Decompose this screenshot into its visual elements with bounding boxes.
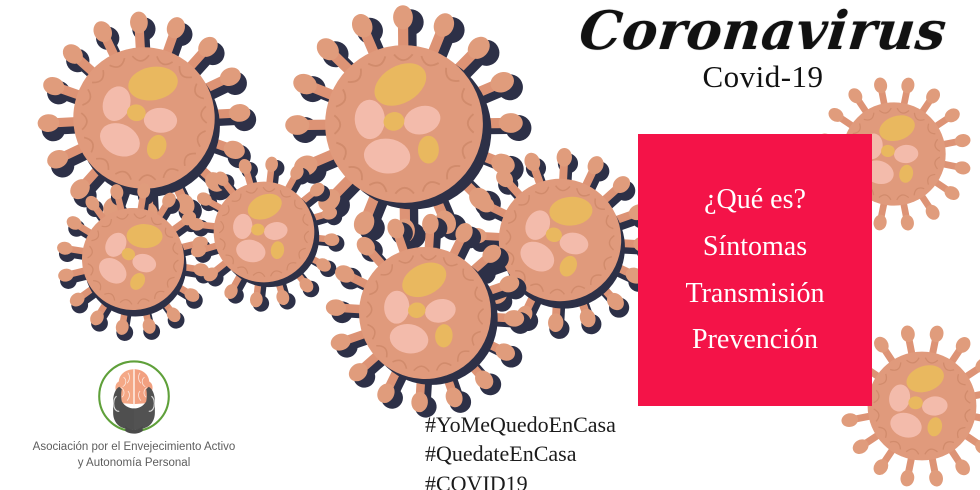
hands-holding-brain-icon xyxy=(90,358,178,438)
hashtag-covid19: #COVID19 xyxy=(425,469,616,490)
hashtag-quedateencasa: #QuedateEnCasa xyxy=(425,439,616,468)
organization-logo: Asociación por el Envejecimiento Activo … xyxy=(8,358,260,471)
logo-caption-line2: y Autonomía Personal xyxy=(8,456,260,472)
poster-canvas: Coronavirus Covid-19 ¿Qué es? Síntomas T… xyxy=(0,0,980,490)
topic-prevencion[interactable]: Prevención xyxy=(692,320,818,360)
hashtag-block: #YoMeQuedoEnCasa #QuedateEnCasa #COVID19 xyxy=(425,410,616,490)
logo-caption-line1: Asociación por el Envejecimiento Activo xyxy=(8,440,260,456)
topic-transmision[interactable]: Transmisión xyxy=(685,274,824,314)
topic-sintomas[interactable]: Síntomas xyxy=(703,227,807,267)
logo-caption: Asociación por el Envejecimiento Activo … xyxy=(8,440,260,471)
topics-panel: ¿Qué es? Síntomas Transmisión Prevención xyxy=(638,134,872,406)
virus-bottom-center-icon xyxy=(315,203,534,422)
hashtag-yomequedoencasa: #YoMeQuedoEnCasa xyxy=(425,410,616,439)
topic-que-es[interactable]: ¿Qué es? xyxy=(704,180,806,220)
